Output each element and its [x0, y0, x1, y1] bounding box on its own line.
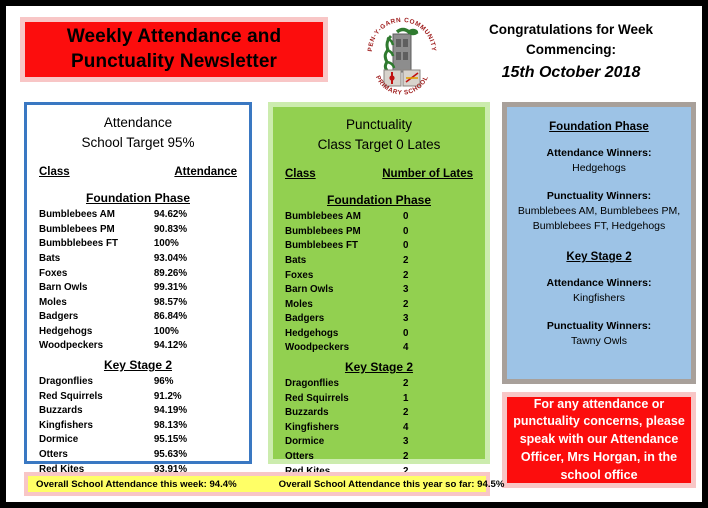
overall-attendance-week: Overall School Attendance this week: 94.… — [36, 479, 237, 490]
ks2-punctuality-winners-label: Punctuality Winners: — [507, 320, 691, 332]
table-row: Bumblebees AM0 — [285, 210, 473, 225]
row-class-name: Bats — [285, 254, 379, 269]
table-row: Dragonflies2 — [285, 377, 473, 392]
row-value: 94.62% — [154, 208, 237, 223]
row-value: 94.12% — [154, 339, 237, 354]
punctuality-col-value: Number of Lates — [382, 168, 473, 180]
row-class-name: Bumbblebees FT — [39, 237, 154, 252]
congratulations-header: Congratulations for Week Commencing: 15t… — [446, 20, 696, 85]
table-row: Kingfishers4 — [285, 421, 473, 436]
row-class-name: Bumblebees PM — [285, 225, 379, 240]
row-value: 95.63% — [154, 448, 237, 463]
table-row: Woodpeckers94.12% — [39, 339, 237, 354]
winners-foundation-heading: Foundation Phase — [507, 121, 691, 133]
table-row: Hedgehogs100% — [39, 325, 237, 340]
row-value: 0 — [379, 210, 497, 225]
table-row: Badgers3 — [285, 312, 473, 327]
row-value: 89.26% — [154, 267, 237, 282]
row-value: 96% — [154, 375, 237, 390]
newsletter-title-line1: Weekly Attendance and — [67, 25, 281, 49]
newsletter-title-text: Weekly Attendance and Punctuality Newsle… — [67, 25, 281, 74]
table-row: Bumblebees PM90.83% — [39, 223, 237, 238]
attendance-ks2-heading: Key Stage 2 — [27, 358, 249, 372]
row-value: 100% — [154, 237, 237, 252]
table-row: Buzzards94.19% — [39, 404, 237, 419]
row-value: 1 — [379, 392, 497, 407]
newsletter-title-line2: Punctuality Newsletter — [67, 50, 281, 74]
row-class-name: Hedgehogs — [39, 325, 154, 340]
row-class-name: Red Squirrels — [39, 390, 154, 405]
row-class-name: Dragonflies — [285, 377, 379, 392]
row-class-name: Red Squirrels — [285, 392, 379, 407]
table-row: Red Squirrels1 — [285, 392, 473, 407]
table-row: Badgers86.84% — [39, 310, 237, 325]
fp-punctuality-winners-line2: Bumblebees FT, Hedgehogs — [507, 219, 691, 234]
row-class-name: Kingfishers — [285, 421, 379, 436]
table-row: Bats93.04% — [39, 252, 237, 267]
row-class-name: Kingfishers — [39, 419, 154, 434]
attendance-foundation-heading: Foundation Phase — [27, 191, 249, 205]
fp-punctuality-winners-line1: Bumblebees AM, Bumblebees PM, — [507, 204, 691, 219]
punctuality-foundation-heading: Foundation Phase — [273, 193, 485, 207]
attendance-foundation-rows: Bumblebees AM94.62%Bumblebees PM90.83%Bu… — [39, 208, 237, 354]
table-row: Barn Owls3 — [285, 283, 473, 298]
table-row: Foxes89.26% — [39, 267, 237, 282]
row-value: 0 — [379, 239, 497, 254]
table-row: Dragonflies96% — [39, 375, 237, 390]
congrats-line: Congratulations for Week Commencing: — [446, 20, 696, 61]
row-class-name: Moles — [39, 296, 154, 311]
table-row: Otters2 — [285, 450, 473, 465]
row-class-name: Barn Owls — [285, 283, 379, 298]
table-row: Bumblebees AM94.62% — [39, 208, 237, 223]
row-value: 94.19% — [154, 404, 237, 419]
school-crest-icon: PEN-Y-GARN COMMUNITY PRIMARY SCHOOL — [363, 12, 441, 96]
fp-attendance-winners-label: Attendance Winners: — [507, 147, 691, 159]
punctuality-foundation-rows: Bumblebees AM0Bumblebees PM0Bumblebees F… — [285, 210, 473, 356]
attendance-subtitle: School Target 95% — [27, 133, 249, 153]
row-value: 100% — [154, 325, 237, 340]
newsletter-title-banner: Weekly Attendance and Punctuality Newsle… — [20, 17, 328, 82]
row-class-name: Moles — [285, 298, 379, 313]
table-row: Dormice3 — [285, 435, 473, 450]
row-value: 4 — [379, 421, 497, 436]
punctuality-title: Punctuality — [273, 115, 485, 135]
row-class-name: Bumblebees AM — [39, 208, 154, 223]
table-row: Hedgehogs0 — [285, 327, 473, 342]
punctuality-subtitle: Class Target 0 Lates — [273, 135, 485, 155]
row-value: 2 — [379, 450, 497, 465]
row-value: 2 — [379, 254, 497, 269]
row-class-name: Badgers — [39, 310, 154, 325]
row-class-name: Otters — [39, 448, 154, 463]
attendance-title: Attendance — [27, 113, 249, 133]
ks2-attendance-winners-value: Kingfishers — [507, 291, 691, 306]
row-value: 93.04% — [154, 252, 237, 267]
fp-punctuality-winners-label: Punctuality Winners: — [507, 190, 691, 202]
row-class-name: Dragonflies — [39, 375, 154, 390]
row-value: 2 — [379, 406, 497, 421]
winners-panel: Foundation Phase Attendance Winners: Hed… — [502, 102, 696, 384]
row-value: 3 — [379, 312, 497, 327]
row-class-name: Otters — [285, 450, 379, 465]
row-value: 95.15% — [154, 433, 237, 448]
newsletter-sheet: Weekly Attendance and Punctuality Newsle… — [6, 6, 702, 502]
row-class-name: Woodpeckers — [39, 339, 154, 354]
table-row: Bats2 — [285, 254, 473, 269]
row-value: 3 — [379, 435, 497, 450]
row-class-name: Woodpeckers — [285, 341, 379, 356]
row-class-name: Foxes — [285, 269, 379, 284]
overall-attendance-year: Overall School Attendance this year so f… — [279, 479, 505, 490]
table-row: Red Squirrels91.2% — [39, 390, 237, 405]
row-value: 2 — [379, 269, 497, 284]
attendance-col-class: Class — [39, 166, 70, 178]
table-row: Barn Owls99.31% — [39, 281, 237, 296]
row-value: 4 — [379, 341, 497, 356]
ks2-punctuality-winners-value: Tawny Owls — [507, 334, 691, 349]
row-value: 98.57% — [154, 296, 237, 311]
winners-ks2-heading: Key Stage 2 — [507, 251, 691, 263]
row-class-name: Buzzards — [39, 404, 154, 419]
attendance-col-value: Attendance — [174, 166, 237, 178]
table-row: Woodpeckers4 — [285, 341, 473, 356]
punctuality-panel: Punctuality Class Target 0 Lates Class N… — [268, 102, 490, 464]
attendance-panel: Attendance School Target 95% Class Atten… — [24, 102, 252, 464]
overall-attendance-bar: Overall School Attendance this week: 94.… — [24, 472, 490, 496]
table-row: Bumblebees FT0 — [285, 239, 473, 254]
newsletter-page: Weekly Attendance and Punctuality Newsle… — [0, 0, 708, 508]
table-row: Moles2 — [285, 298, 473, 313]
row-class-name: Bumblebees AM — [285, 210, 379, 225]
punctuality-ks2-heading: Key Stage 2 — [273, 360, 485, 374]
row-class-name: Bumblebees FT — [285, 239, 379, 254]
table-row: Kingfishers98.13% — [39, 419, 237, 434]
week-commencing-date: 15th October 2018 — [446, 61, 696, 85]
svg-text:PRIMARY SCHOOL: PRIMARY SCHOOL — [374, 75, 430, 96]
table-row: Moles98.57% — [39, 296, 237, 311]
row-value: 98.13% — [154, 419, 237, 434]
row-class-name: Barn Owls — [39, 281, 154, 296]
row-class-name: Foxes — [39, 267, 154, 282]
ks2-attendance-winners-label: Attendance Winners: — [507, 277, 691, 289]
table-row: Otters95.63% — [39, 448, 237, 463]
row-value: 90.83% — [154, 223, 237, 238]
contact-notice-box: For any attendance or punctuality concer… — [502, 392, 696, 488]
row-value: 0 — [379, 327, 497, 342]
attendance-column-headers: Class Attendance — [39, 166, 237, 178]
row-value: 86.84% — [154, 310, 237, 325]
row-class-name: Dormice — [39, 433, 154, 448]
row-value: 0 — [379, 225, 497, 240]
row-class-name: Badgers — [285, 312, 379, 327]
row-class-name: Buzzards — [285, 406, 379, 421]
row-value: 2 — [379, 298, 497, 313]
table-row: Bumbblebees FT100% — [39, 237, 237, 252]
school-crest-logo: PEN-Y-GARN COMMUNITY PRIMARY SCHOOL — [363, 12, 441, 96]
table-row: Buzzards2 — [285, 406, 473, 421]
fp-attendance-winners-value: Hedgehogs — [507, 161, 691, 176]
contact-notice-text: For any attendance or punctuality concer… — [507, 396, 691, 485]
punctuality-column-headers: Class Number of Lates — [285, 168, 473, 180]
row-value: 99.31% — [154, 281, 237, 296]
row-value: 3 — [379, 283, 497, 298]
table-row: Dormice95.15% — [39, 433, 237, 448]
row-value: 91.2% — [154, 390, 237, 405]
row-class-name: Hedgehogs — [285, 327, 379, 342]
row-class-name: Dormice — [285, 435, 379, 450]
row-value: 2 — [379, 377, 497, 392]
table-row: Foxes2 — [285, 269, 473, 284]
row-class-name: Bumblebees PM — [39, 223, 154, 238]
row-class-name: Bats — [39, 252, 154, 267]
fp-punctuality-winners-value: Bumblebees AM, Bumblebees PM, Bumblebees… — [507, 204, 691, 234]
punctuality-col-class: Class — [285, 168, 316, 180]
table-row: Bumblebees PM0 — [285, 225, 473, 240]
